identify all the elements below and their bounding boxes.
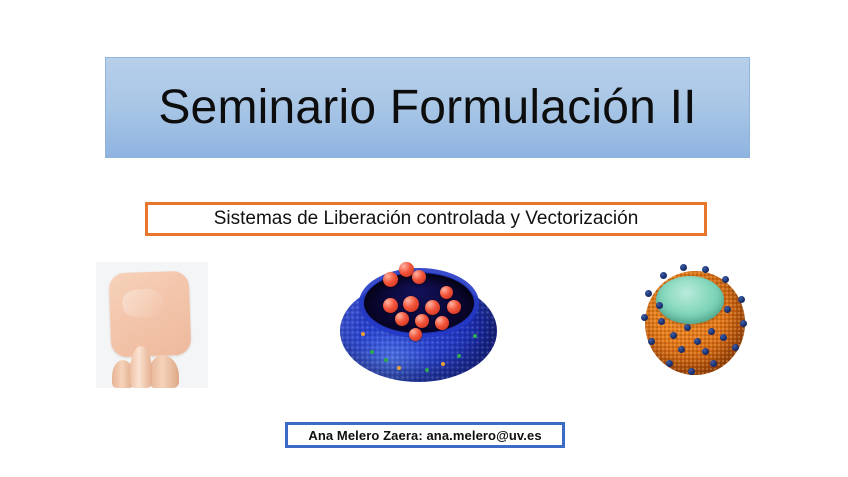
drug-sphere — [435, 316, 449, 330]
surface-ligand — [660, 272, 667, 279]
finger-index — [130, 346, 152, 388]
surface-ligand — [708, 328, 715, 335]
membrane-marker — [370, 350, 374, 354]
surface-ligand — [722, 276, 729, 283]
drug-sphere — [383, 298, 398, 313]
surface-ligand — [702, 348, 709, 355]
membrane-marker — [361, 332, 365, 336]
drug-sphere — [440, 286, 453, 299]
slide-title-banner: Seminario Formulación II — [105, 57, 750, 158]
membrane-marker — [457, 354, 461, 358]
drug-sphere — [395, 312, 409, 326]
drug-sphere — [447, 300, 461, 314]
surface-ligand — [658, 318, 665, 325]
surface-ligand — [738, 296, 745, 303]
membrane-marker — [384, 358, 388, 362]
drug-sphere — [425, 300, 440, 315]
membrane-marker — [397, 366, 401, 370]
surface-ligand — [678, 346, 685, 353]
surface-ligand — [702, 266, 709, 273]
surface-ligand — [732, 344, 739, 351]
surface-ligand — [641, 314, 648, 321]
figure-row — [0, 262, 848, 402]
slide-subtitle-box: Sistemas de Liberación controlada y Vect… — [145, 202, 707, 236]
surface-ligand — [666, 360, 673, 367]
author-credit-box: Ana Melero Zaera: ana.melero@uv.es — [285, 422, 565, 448]
surface-ligand — [645, 290, 652, 297]
membrane-marker — [425, 368, 429, 372]
membrane-marker — [441, 362, 445, 366]
surface-ligand — [724, 306, 731, 313]
drug-sphere — [412, 270, 426, 284]
drug-sphere — [383, 272, 398, 287]
finger-right — [149, 355, 179, 388]
surface-ligand — [656, 302, 663, 309]
surface-ligand — [694, 338, 701, 345]
nanoparticle-image — [636, 262, 754, 387]
surface-ligand — [684, 324, 691, 331]
nanoparticle-core — [656, 276, 724, 324]
slide-subtitle: Sistemas de Liberación controlada y Vect… — [214, 208, 639, 230]
membrane-marker — [473, 334, 477, 338]
page-title: Seminario Formulación II — [158, 84, 696, 132]
surface-ligand — [680, 264, 687, 271]
presentation-slide: Seminario Formulación II Sistemas de Lib… — [0, 0, 848, 477]
surface-ligand — [740, 320, 747, 327]
liposome-image — [337, 262, 500, 387]
drug-sphere — [403, 296, 419, 312]
transdermal-patch-image — [96, 262, 208, 388]
surface-ligand — [720, 334, 727, 341]
author-credit: Ana Melero Zaera: ana.melero@uv.es — [308, 428, 541, 443]
surface-ligand — [648, 338, 655, 345]
patch-square-icon — [109, 271, 192, 358]
surface-ligand — [710, 360, 717, 367]
drug-sphere — [409, 328, 422, 341]
surface-ligand — [688, 368, 695, 375]
drug-sphere — [415, 314, 429, 328]
surface-ligand — [670, 332, 677, 339]
